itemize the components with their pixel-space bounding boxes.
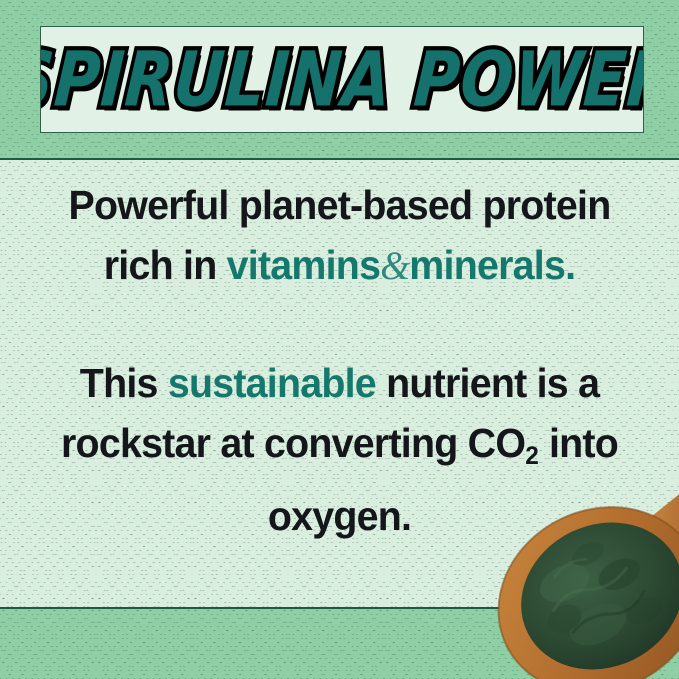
highlight-minerals: minerals. <box>409 242 575 288</box>
co2-subscript: 2 <box>525 442 539 470</box>
highlight-vitamins: vitamins <box>227 242 381 288</box>
paragraph-one: Powerful planet-based protein rich in vi… <box>35 175 645 296</box>
ampersand: & <box>380 243 409 288</box>
highlight-sustainable: sustainable <box>168 360 376 406</box>
spirulina-spoon-icon <box>482 488 679 679</box>
paragraph-one-lead: Powerful planet-based protein <box>69 182 611 228</box>
paragraph-two-prefix: This <box>80 360 168 406</box>
divider-top <box>0 158 679 160</box>
paragraph-one-line2-prefix: rich in <box>104 242 227 288</box>
spirulina-poster: SPIRULINA POWER Powerful planet-based pr… <box>0 0 679 679</box>
page-title: SPIRULINA POWER <box>40 42 644 118</box>
title-box: SPIRULINA POWER <box>40 26 644 133</box>
